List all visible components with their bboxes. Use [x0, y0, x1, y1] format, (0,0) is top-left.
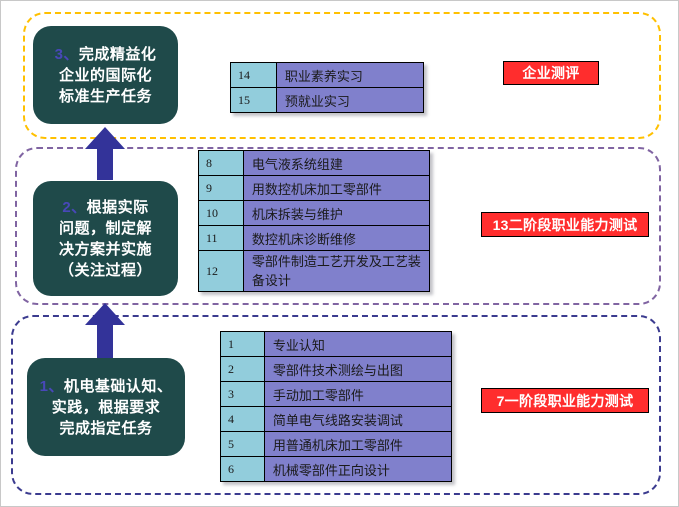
course-name: 电气液系统组建 [243, 151, 429, 176]
course-index: 4 [221, 407, 265, 432]
arrow-stem [97, 324, 113, 360]
course-name: 简单电气线路安装调试 [264, 407, 451, 432]
course-name: 数控机床诊断维修 [243, 226, 429, 251]
goal-line-2-2: 问题，制定解 [59, 220, 152, 237]
course-name: 专业认知 [264, 332, 451, 357]
course-name: 机床拆装与维护 [243, 201, 429, 226]
table-row[interactable]: 4 简单电气线路安装调试 [221, 407, 452, 432]
table-row[interactable]: 8 电气液系统组建 [199, 151, 430, 176]
course-index: 14 [231, 63, 277, 88]
table-row[interactable]: 3 手动加工零部件 [221, 382, 452, 407]
goal-line-1-2: 实践，根据要求 [52, 399, 161, 416]
course-index: 15 [231, 88, 277, 113]
goal-line-3-1: 完成精益化 [79, 46, 157, 63]
goal-line-2-3: 决方案并实施 [59, 241, 152, 258]
course-table-top: 14 职业素养实习 15 预就业实习 [230, 62, 424, 113]
course-index: 6 [221, 457, 265, 482]
goal-number-3: 3、 [55, 46, 79, 63]
goal-line-1-3: 完成指定任务 [59, 420, 152, 437]
course-index: 1 [221, 332, 265, 357]
table-row[interactable]: 10 机床拆装与维护 [199, 201, 430, 226]
course-name: 零部件制造工艺开发及工艺装备设计 [243, 251, 429, 292]
course-name: 预就业实习 [276, 88, 423, 113]
course-name: 手动加工零部件 [264, 382, 451, 407]
course-name: 用数控机床加工零部件 [243, 176, 429, 201]
badge-stage2-ability-test[interactable]: 13二阶段职业能力测试 [481, 212, 649, 237]
table-row[interactable]: 1 专业认知 [221, 332, 452, 357]
course-index: 2 [221, 357, 265, 382]
goal-line-1-1: 机电基础认知、 [64, 378, 173, 395]
goal-line-2-4: （关注过程） [59, 262, 152, 279]
course-index: 8 [199, 151, 244, 176]
arrow-bottom-to-middle-icon [85, 303, 125, 359]
course-table-bottom: 1 专业认知 2 零部件技术测绘与出图 3 手动加工零部件 4 简单电气线路安装… [220, 331, 452, 482]
arrow-stem [97, 148, 113, 180]
goal-number-1: 1、 [40, 378, 64, 395]
goal-line-3-2: 企业的国际化 [59, 67, 152, 84]
table-row[interactable]: 14 职业素养实习 [231, 63, 424, 88]
course-index: 12 [199, 251, 244, 292]
course-index: 3 [221, 382, 265, 407]
badge-enterprise-evaluation[interactable]: 企业测评 [503, 61, 599, 85]
course-table-middle: 8 电气液系统组建 9 用数控机床加工零部件 10 机床拆装与维护 11 数控机… [198, 150, 430, 292]
table-row[interactable]: 2 零部件技术测绘与出图 [221, 357, 452, 382]
table-row[interactable]: 9 用数控机床加工零部件 [199, 176, 430, 201]
goal-box-stage-3: 3、完成精益化 企业的国际化 标准生产任务 [33, 26, 178, 124]
table-row[interactable]: 5 用普通机床加工零部件 [221, 432, 452, 457]
course-name: 机械零部件正向设计 [264, 457, 451, 482]
goal-number-2: 2、 [62, 199, 86, 216]
goal-box-stage-2: 2、根据实际 问题，制定解 决方案并实施 （关注过程） [33, 181, 178, 296]
course-name: 零部件技术测绘与出图 [264, 357, 451, 382]
arrow-head [85, 127, 125, 149]
course-index: 10 [199, 201, 244, 226]
arrow-head [85, 303, 125, 325]
goal-box-stage-1: 1、机电基础认知、 实践，根据要求 完成指定任务 [27, 358, 185, 456]
course-name: 职业素养实习 [276, 63, 423, 88]
course-index: 11 [199, 226, 244, 251]
badge-stage1-ability-test[interactable]: 7一阶段职业能力测试 [481, 388, 649, 413]
table-row[interactable]: 15 预就业实习 [231, 88, 424, 113]
table-row[interactable]: 6 机械零部件正向设计 [221, 457, 452, 482]
course-index: 9 [199, 176, 244, 201]
table-row[interactable]: 11 数控机床诊断维修 [199, 226, 430, 251]
diagram-canvas: 3、完成精益化 企业的国际化 标准生产任务 2、根据实际 问题，制定解 决方案并… [0, 0, 679, 507]
course-name: 用普通机床加工零部件 [264, 432, 451, 457]
table-row[interactable]: 12 零部件制造工艺开发及工艺装备设计 [199, 251, 430, 292]
goal-line-3-3: 标准生产任务 [59, 88, 152, 105]
arrow-middle-to-top-icon [85, 127, 125, 179]
goal-line-2-1: 根据实际 [87, 199, 149, 216]
course-index: 5 [221, 432, 265, 457]
